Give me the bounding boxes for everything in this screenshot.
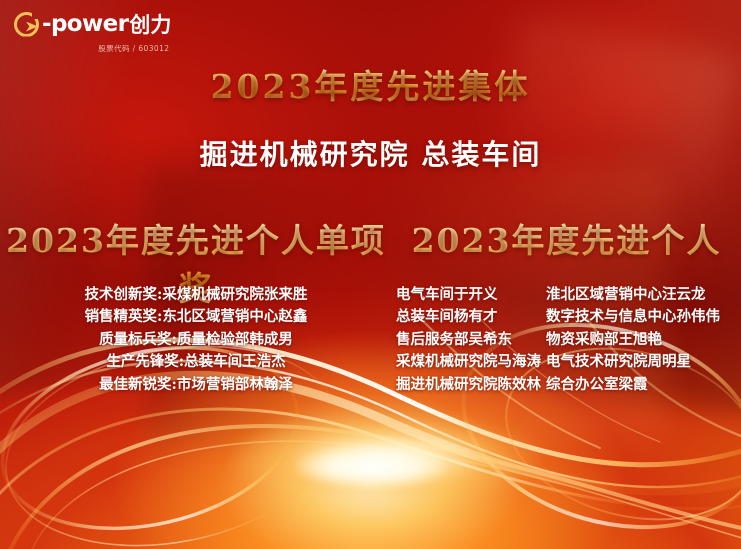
award-poster: -power 创力 股票代码 / 603012 2023年度先进集体 掘进机械研… — [0, 0, 741, 549]
list-item: 最佳新锐奖:市场营销部林翰泽 — [0, 374, 392, 396]
list-item: 物资采购部王旭艳 — [546, 329, 741, 351]
center-glow-hotspot — [296, 447, 446, 487]
list-row: 采煤机械研究院马海涛 电气技术研究院周明星 — [396, 351, 741, 373]
list-row: 电气车间于开义 淮北区域营销中心汪云龙 — [396, 284, 741, 306]
list-item: 数字技术与信息中心孙伟伟 — [546, 306, 741, 328]
list-item: 电气车间于开义 — [396, 284, 546, 306]
list-row: 总装车间杨有才 数字技术与信息中心孙伟伟 — [396, 306, 741, 328]
c-power-logo-icon — [14, 12, 39, 37]
special-award-list: 技术创新奖:采煤机械研究院张来胜 销售精英奖:东北区域营销中心赵鑫 质量标兵奖:… — [0, 284, 392, 396]
list-item: 生产先锋奖:总装车间王浩杰 — [0, 351, 392, 373]
center-glow — [237, 415, 537, 501]
list-item: 淮北区域营销中心汪云龙 — [546, 284, 741, 306]
list-item: 掘进机械研究院陈效林 — [396, 374, 546, 396]
award-lists: 技术创新奖:采煤机械研究院张来胜 销售精英奖:东北区域营销中心赵鑫 质量标兵奖:… — [0, 284, 741, 396]
list-item: 销售精英奖:东北区域营销中心赵鑫 — [0, 306, 392, 328]
list-row: 售后服务部吴希东 物资采购部王旭艳 — [396, 329, 741, 351]
list-item: 质量标兵奖:质量检验部韩成男 — [0, 329, 392, 351]
advanced-individual-list: 电气车间于开义 淮北区域营销中心汪云龙 总装车间杨有才 数字技术与信息中心孙伟伟… — [392, 284, 741, 396]
brand-logo: -power 创力 股票代码 / 603012 — [14, 9, 171, 54]
stock-code: 股票代码 / 603012 — [14, 43, 171, 54]
list-item: 采煤机械研究院马海涛 — [396, 351, 546, 373]
brand-name-cn: 创力 — [129, 9, 171, 39]
poster-title: 2023年度先进集体 — [0, 60, 741, 108]
list-item: 总装车间杨有才 — [396, 306, 546, 328]
list-item: 电气技术研究院周明星 — [546, 351, 741, 373]
list-row: 掘进机械研究院陈效林 综合办公室梁霞 — [396, 374, 741, 396]
list-item: 售后服务部吴希东 — [396, 329, 546, 351]
brand-name-en: -power — [42, 13, 128, 36]
list-item: 技术创新奖:采煤机械研究院张来胜 — [0, 284, 392, 306]
list-item: 综合办公室梁霞 — [546, 374, 741, 396]
poster-subtitle: 掘进机械研究院 总装车间 — [0, 133, 741, 173]
